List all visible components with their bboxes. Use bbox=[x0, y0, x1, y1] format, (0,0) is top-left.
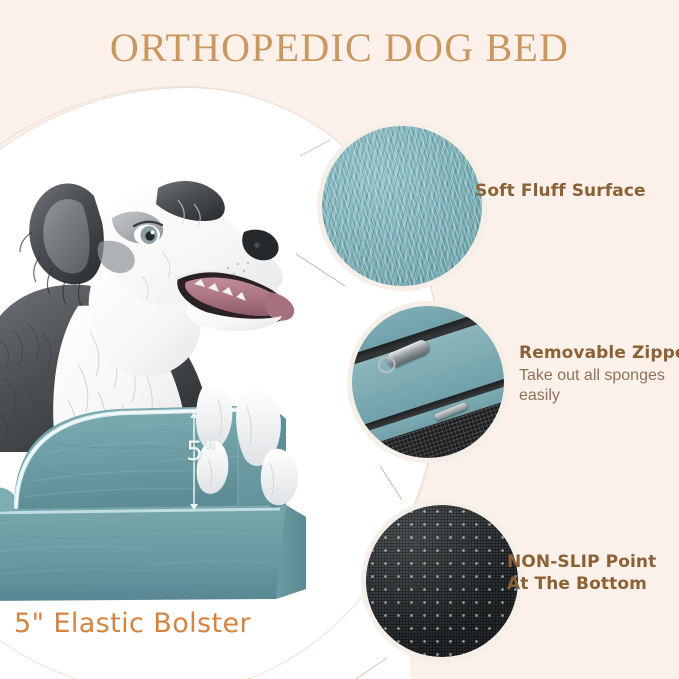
infographic-canvas: ORTHOPEDIC DOG BED bbox=[0, 0, 679, 679]
callout-subtext-zipper: Take out all sponges easily bbox=[519, 366, 679, 406]
bed-height-label: 5" bbox=[186, 436, 218, 467]
callout-label-nonslip: NON-SLIP Point At The Bottom bbox=[507, 552, 656, 596]
callout-heading-zipper: Removable Zipper bbox=[519, 343, 679, 365]
callout-heading-fluff: Soft Fluff Surface bbox=[475, 181, 646, 203]
dog-bed-illustration bbox=[0, 385, 360, 625]
callout-heading-nonslip-line1: NON-SLIP Point bbox=[507, 552, 656, 574]
teal-fluff-texture bbox=[322, 126, 482, 286]
callout-circle-fluff bbox=[322, 126, 482, 286]
callout-label-fluff: Soft Fluff Surface bbox=[475, 181, 646, 203]
callout-circle-nonslip bbox=[366, 505, 518, 657]
page-title: ORTHOPEDIC DOG BED bbox=[0, 24, 679, 71]
zipper-texture-swatch bbox=[352, 306, 504, 458]
callout-label-zipper: Removable Zipper Take out all sponges ea… bbox=[519, 343, 679, 406]
fluff-texture-swatch bbox=[322, 126, 482, 286]
callout-heading-nonslip-line2: At The Bottom bbox=[507, 574, 656, 596]
bolster-caption: 5" Elastic Bolster bbox=[14, 608, 251, 639]
black-dotted-nonslip-texture bbox=[366, 505, 518, 657]
callout-circle-zipper bbox=[352, 306, 504, 458]
nonslip-texture-swatch bbox=[366, 505, 518, 657]
teal-zipper-texture bbox=[352, 306, 504, 458]
